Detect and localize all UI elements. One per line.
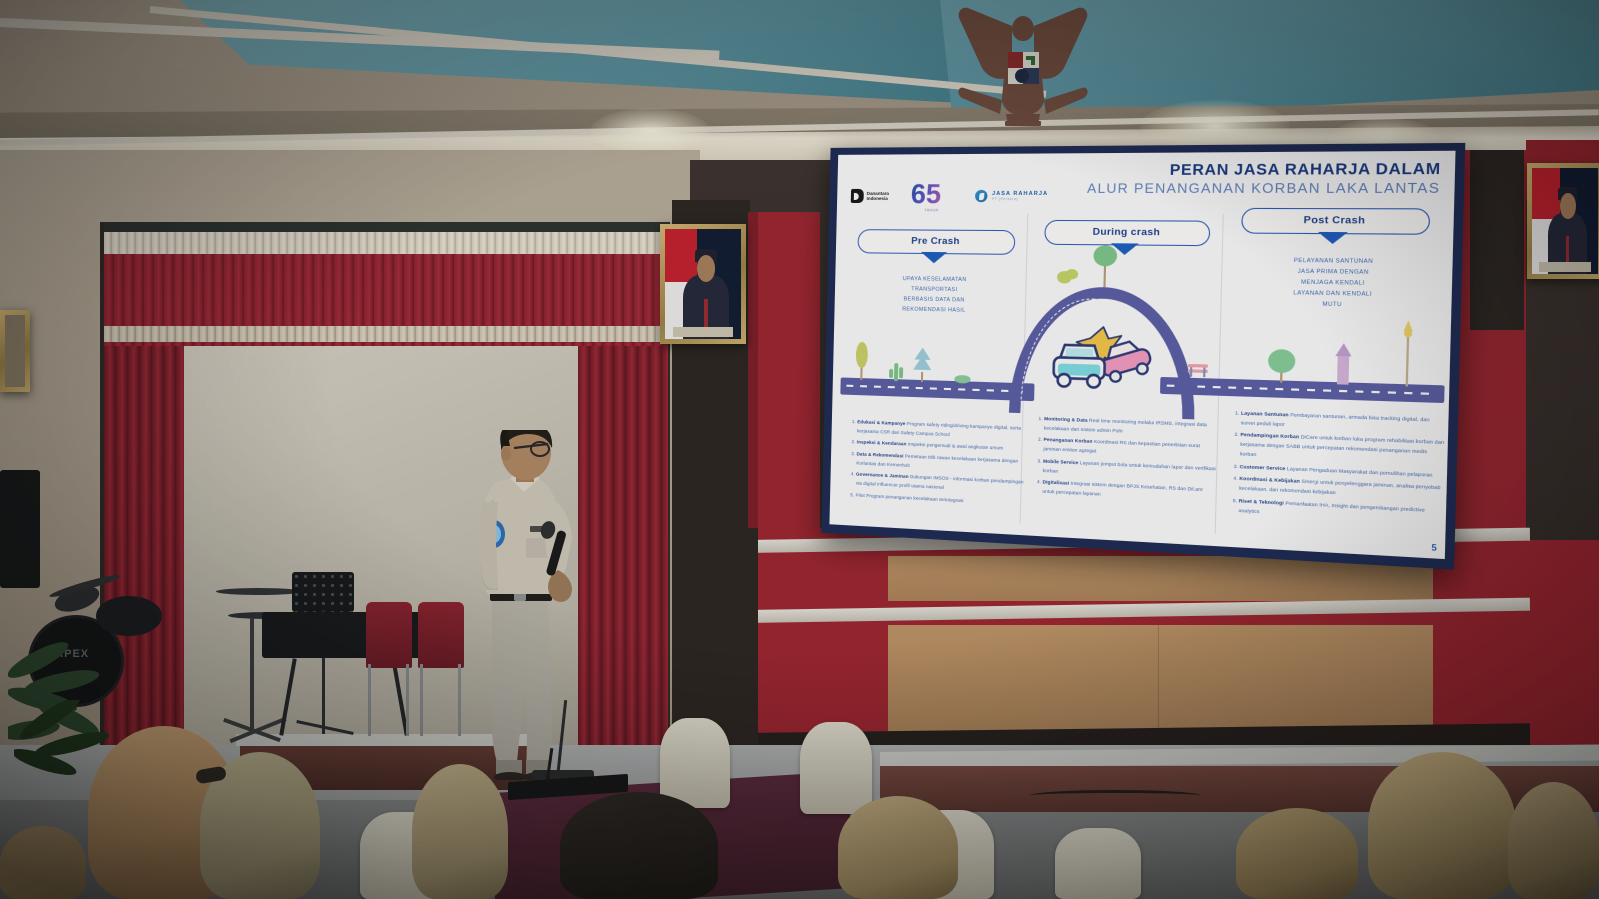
tree-icon xyxy=(1092,243,1119,287)
jasa-raharja-logo-text: JASA RAHARJA PT (Persero) xyxy=(992,191,1048,201)
phase-box-post-crash[interactable]: Post Crash xyxy=(1241,208,1430,235)
list-post-crash: Layanan Santunan Pembayaran santunan, ar… xyxy=(1227,409,1446,529)
pine-tree-icon xyxy=(912,345,933,382)
street-lamp-icon xyxy=(1394,318,1422,387)
jasa-raharja-mark-icon xyxy=(975,190,988,202)
phase-caption-pre: UPAYA KESELAMATAN TRANSPORTASI BERBASIS … xyxy=(864,274,1006,317)
curtain-fringe xyxy=(104,326,666,342)
danantara-mark-icon xyxy=(851,189,864,203)
phase-box-during-crash[interactable]: During crash xyxy=(1044,220,1210,246)
audience-member xyxy=(1236,808,1358,899)
chair-leg xyxy=(368,664,371,736)
audience-member xyxy=(1368,752,1516,899)
slide-content: PERAN JASA RAHARJA DALAM ALUR PENANGANAN… xyxy=(829,151,1455,559)
slide-title: PERAN JASA RAHARJA DALAM ALUR PENANGANAN… xyxy=(1087,162,1441,196)
phase-label: Pre Crash xyxy=(858,230,1014,253)
cymbal-stand xyxy=(250,618,254,734)
phase-arrow-post xyxy=(1318,232,1348,244)
red-wall-panel xyxy=(748,212,820,542)
ceiling-light xyxy=(590,108,710,154)
photo-scene: PERAN JASA RAHARJA DALAM ALUR PENANGANAN… xyxy=(0,0,1599,899)
list-during-crash: Monitoring & Data Real time monitoring m… xyxy=(1032,415,1219,509)
bench-icon xyxy=(1187,361,1209,379)
monument-icon xyxy=(1330,343,1356,385)
red-wall-panel xyxy=(1530,540,1599,760)
audience-member xyxy=(0,826,86,899)
garuda-pancasila-emblem xyxy=(948,2,1098,130)
music-stand xyxy=(292,572,354,612)
chair-leg xyxy=(458,664,461,736)
foreground-plant xyxy=(14,700,134,825)
slide-title-line2: ALUR PENANGANAN KORBAN LAKA LANTAS xyxy=(1087,181,1441,196)
tree-icon xyxy=(854,342,869,381)
danantara-logo: Danantara Indonesia xyxy=(851,189,889,203)
bush-icon xyxy=(954,371,971,384)
list-pre-crash: Edukasi & Kampanye Program safety riding… xyxy=(846,418,1026,512)
stage-chair-red[interactable] xyxy=(418,602,464,668)
audience-member xyxy=(412,764,508,899)
wall-picture-left xyxy=(0,310,30,392)
curtain-rod xyxy=(104,222,670,232)
phase-arrow-pre xyxy=(921,252,947,263)
audience-chair[interactable] xyxy=(800,722,872,814)
danantara-logo-text: Danantara Indonesia xyxy=(867,191,889,202)
crashed-cars-icon xyxy=(1047,324,1168,396)
road-crash-infographic xyxy=(838,151,1455,155)
phase-label: Post Crash xyxy=(1242,209,1429,233)
official-portrait-right xyxy=(1527,163,1599,279)
official-portrait-left xyxy=(660,224,746,344)
audience-chair[interactable] xyxy=(1055,828,1141,899)
slide-page-number: 5 xyxy=(1431,543,1437,553)
wall-pillar xyxy=(740,528,758,760)
chair-leg xyxy=(420,664,423,736)
slide-title-line1: PERAN JASA RAHARJA DALAM xyxy=(1087,162,1441,180)
phase-caption-post: PELAYANAN SANTUNAN JASA PRIMA DENGAN MEN… xyxy=(1244,255,1425,312)
wood-panel-seam xyxy=(1158,625,1159,735)
cactus-icon xyxy=(888,359,904,382)
red-wall-panel-shadow xyxy=(748,212,758,542)
tree-icon xyxy=(1266,348,1296,383)
presenter xyxy=(470,430,600,780)
audience-chair[interactable] xyxy=(660,718,730,808)
phase-label: During crash xyxy=(1045,221,1209,244)
jasa-raharja-logo: JASA RAHARJA PT (Persero) xyxy=(975,190,1048,202)
phase-box-pre-crash[interactable]: Pre Crash xyxy=(857,229,1015,255)
audience-member xyxy=(560,792,718,899)
stage-chair-red[interactable] xyxy=(366,602,412,668)
audience-member xyxy=(838,796,958,899)
anniversary-65-logo: 65 TAHUN xyxy=(910,181,953,212)
floor-cable xyxy=(1030,790,1200,801)
speaker xyxy=(0,470,40,588)
chair-leg xyxy=(406,664,409,736)
slide-logo-row: Danantara Indonesia 65 TAHUN JASA RAHARJ… xyxy=(851,180,1049,211)
cymbal xyxy=(216,588,302,595)
wood-wall-panel xyxy=(888,625,1433,735)
projection-screen: PERAN JASA RAHARJA DALAM ALUR PENANGANAN… xyxy=(821,143,1465,570)
anniversary-number: 65 xyxy=(911,181,954,209)
bush-icon xyxy=(1057,264,1079,285)
wall-pillar xyxy=(1470,150,1524,330)
audience-member xyxy=(1508,782,1599,899)
